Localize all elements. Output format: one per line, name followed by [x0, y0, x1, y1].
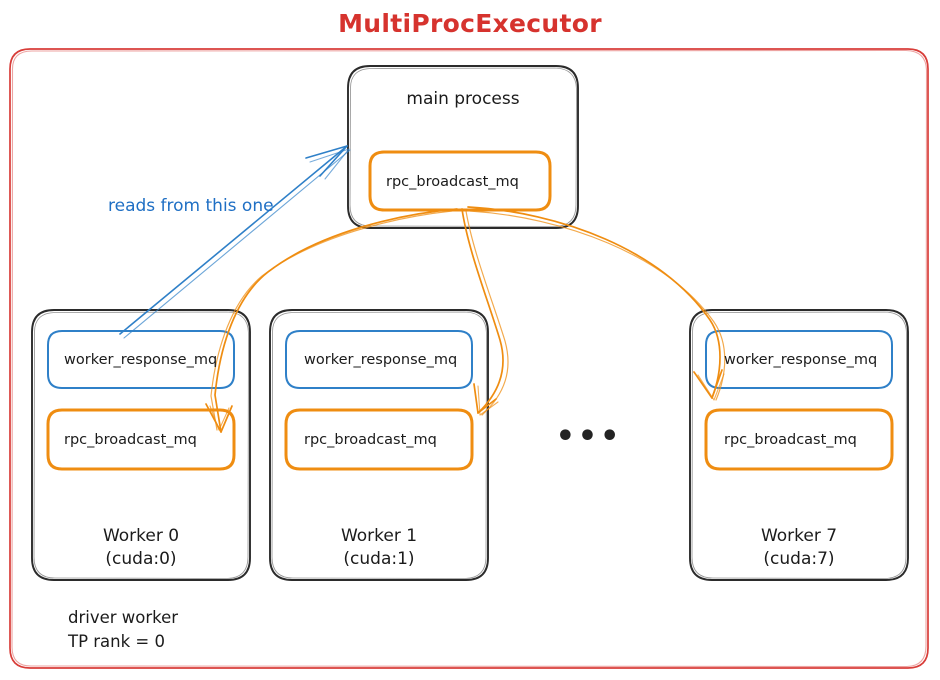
arrow-broadcast-to-worker-0: [206, 209, 457, 432]
worker-1-broadcast-queue-label: rpc_broadcast_mq: [304, 431, 437, 449]
main-process-title: main process: [348, 89, 578, 110]
worker-0-response-queue-label: worker_response_mq: [64, 351, 217, 369]
worker-0-device: (cuda:0): [32, 549, 250, 570]
arrow-reads-from-worker-0-response: [120, 146, 350, 338]
arrow-broadcast-to-worker-7: [468, 207, 725, 400]
worker-7-broadcast-queue-label: rpc_broadcast_mq: [724, 431, 857, 449]
worker-1-device: (cuda:1): [270, 549, 488, 570]
annotation-reads-from-this-one: reads from this one: [108, 196, 274, 217]
diagram-canvas: MultiProcExecutor main process rpc_broad…: [0, 0, 940, 680]
annotation-tp-rank: TP rank = 0: [68, 632, 165, 653]
page-title: MultiProcExecutor: [0, 8, 940, 39]
worker-0-name: Worker 0: [32, 526, 250, 547]
worker-7-response-queue-label: worker_response_mq: [724, 351, 877, 369]
worker-1-name: Worker 1: [270, 526, 488, 547]
annotation-driver-worker: driver worker: [68, 608, 178, 629]
workers-ellipsis: •••: [488, 418, 690, 456]
worker-7-device: (cuda:7): [690, 549, 908, 570]
worker-1-response-queue-label: worker_response_mq: [304, 351, 457, 369]
worker-7-name: Worker 7: [690, 526, 908, 547]
arrow-broadcast-to-worker-1: [462, 209, 508, 415]
main-process-broadcast-queue-label: rpc_broadcast_mq: [386, 173, 519, 191]
worker-0-broadcast-queue-label: rpc_broadcast_mq: [64, 431, 197, 449]
